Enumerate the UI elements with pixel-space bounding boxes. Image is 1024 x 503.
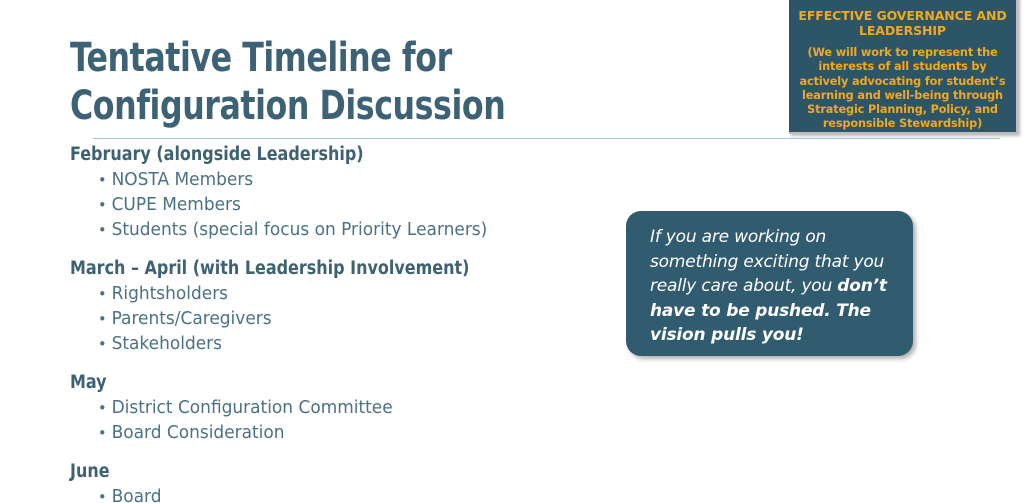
governance-banner: EFFECTIVE GOVERNANCE AND LEADERSHIP (We … bbox=[789, 0, 1018, 134]
governance-description: (We will work to represent the interests… bbox=[797, 46, 1008, 132]
timeline-group-june: June Board bbox=[70, 460, 630, 503]
list-item: Rightsholders bbox=[98, 282, 614, 307]
list-item: Board bbox=[98, 485, 614, 503]
timeline-heading: February (alongside Leadership) bbox=[70, 143, 608, 167]
list-item: NOSTA Members bbox=[98, 168, 614, 193]
timeline-group-may: May District Configuration Committee Boa… bbox=[70, 371, 630, 446]
list-item: District Configuration Committee bbox=[98, 396, 614, 421]
list-item: Stakeholders bbox=[98, 332, 614, 357]
list-item: Board Consideration bbox=[98, 421, 614, 446]
quote-callout: If you are working on something exciting… bbox=[626, 211, 913, 356]
timeline-bullet-list: Board bbox=[70, 485, 630, 503]
timeline-heading: March – April (with Leadership Involveme… bbox=[70, 257, 608, 281]
slide-canvas: Tentative Timeline for Configuration Dis… bbox=[0, 0, 1024, 503]
timeline-outline: February (alongside Leadership) NOSTA Me… bbox=[70, 143, 630, 503]
timeline-group-march-april: March – April (with Leadership Involveme… bbox=[70, 257, 630, 357]
title-divider-rule bbox=[93, 138, 1000, 139]
list-item: CUPE Members bbox=[98, 193, 614, 218]
timeline-bullet-list: Rightsholders Parents/Caregivers Stakeho… bbox=[70, 282, 630, 357]
list-item: Students (special focus on Priority Lear… bbox=[98, 218, 614, 243]
timeline-group-february: February (alongside Leadership) NOSTA Me… bbox=[70, 143, 630, 243]
governance-title: EFFECTIVE GOVERNANCE AND LEADERSHIP bbox=[797, 8, 1008, 38]
timeline-bullet-list: NOSTA Members CUPE Members Students (spe… bbox=[70, 168, 630, 243]
timeline-heading: May bbox=[70, 371, 608, 395]
list-item: Parents/Caregivers bbox=[98, 307, 614, 332]
page-title: Tentative Timeline for Configuration Dis… bbox=[70, 34, 686, 130]
quote-text: If you are working on something exciting… bbox=[650, 225, 891, 348]
timeline-heading: June bbox=[70, 460, 608, 484]
timeline-bullet-list: District Configuration Committee Board C… bbox=[70, 396, 630, 446]
